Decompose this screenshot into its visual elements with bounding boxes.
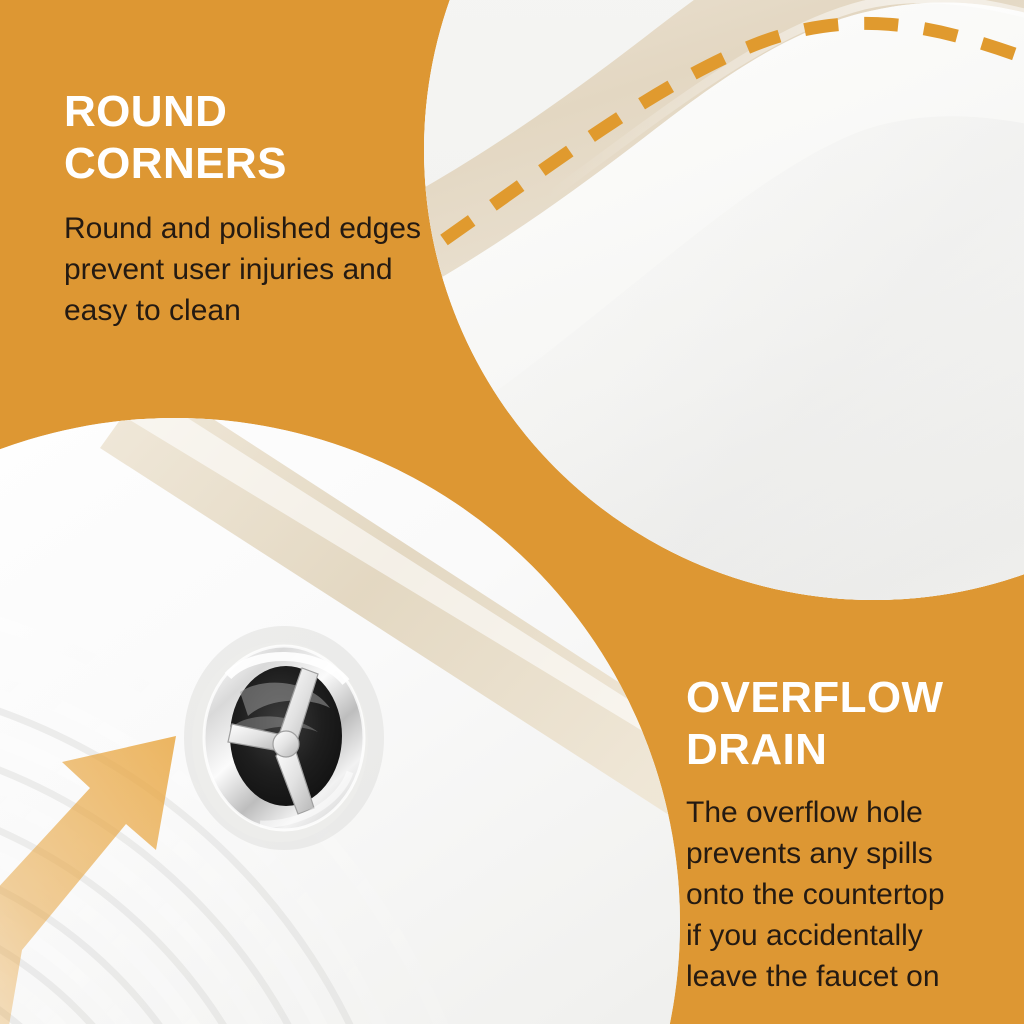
overflow-drain-image <box>0 418 680 1024</box>
round-corners-heading: ROUND CORNERS <box>64 86 464 190</box>
feature-block-overflow-drain: OVERFLOW DRAIN The overflow hole prevent… <box>686 672 1016 997</box>
overflow-drain-heading: OVERFLOW DRAIN <box>686 672 1016 776</box>
photo-overflow-drain-closeup <box>0 418 680 1024</box>
infographic-canvas: ROUND CORNERS Round and polished edges p… <box>0 0 1024 1024</box>
overflow-drain-artwork <box>0 418 680 1024</box>
overflow-drain-icon <box>184 626 384 850</box>
overflow-drain-body: The overflow hole prevents any spills on… <box>686 792 1016 997</box>
feature-block-round-corners: ROUND CORNERS Round and polished edges p… <box>64 86 464 331</box>
round-corners-body: Round and polished edges prevent user in… <box>64 208 464 331</box>
